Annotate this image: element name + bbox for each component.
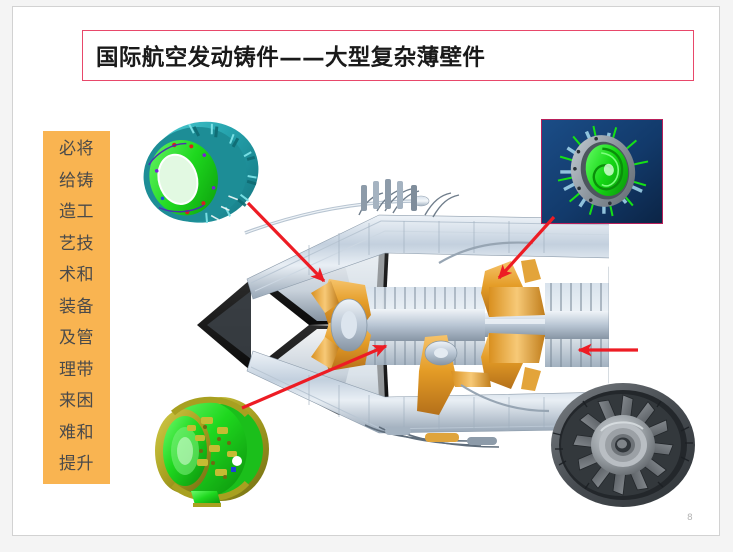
page-number: 8 — [687, 513, 693, 523]
slide-page: 国际航空发动铸件——大型复杂薄壁件 必将给铸造工艺技术和装备及管理带来困难和提升 — [12, 6, 720, 536]
arrow-to-diffuser-casing — [499, 217, 554, 278]
arrow-to-intermediate-casing — [242, 346, 386, 408]
slide-canvas: 国际航空发动铸件——大型复杂薄壁件 必将给铸造工艺技术和装备及管理带来困难和提升 — [0, 0, 733, 552]
callout-arrow-layer — [13, 7, 721, 537]
arrow-to-nozzle-ring — [248, 203, 324, 281]
